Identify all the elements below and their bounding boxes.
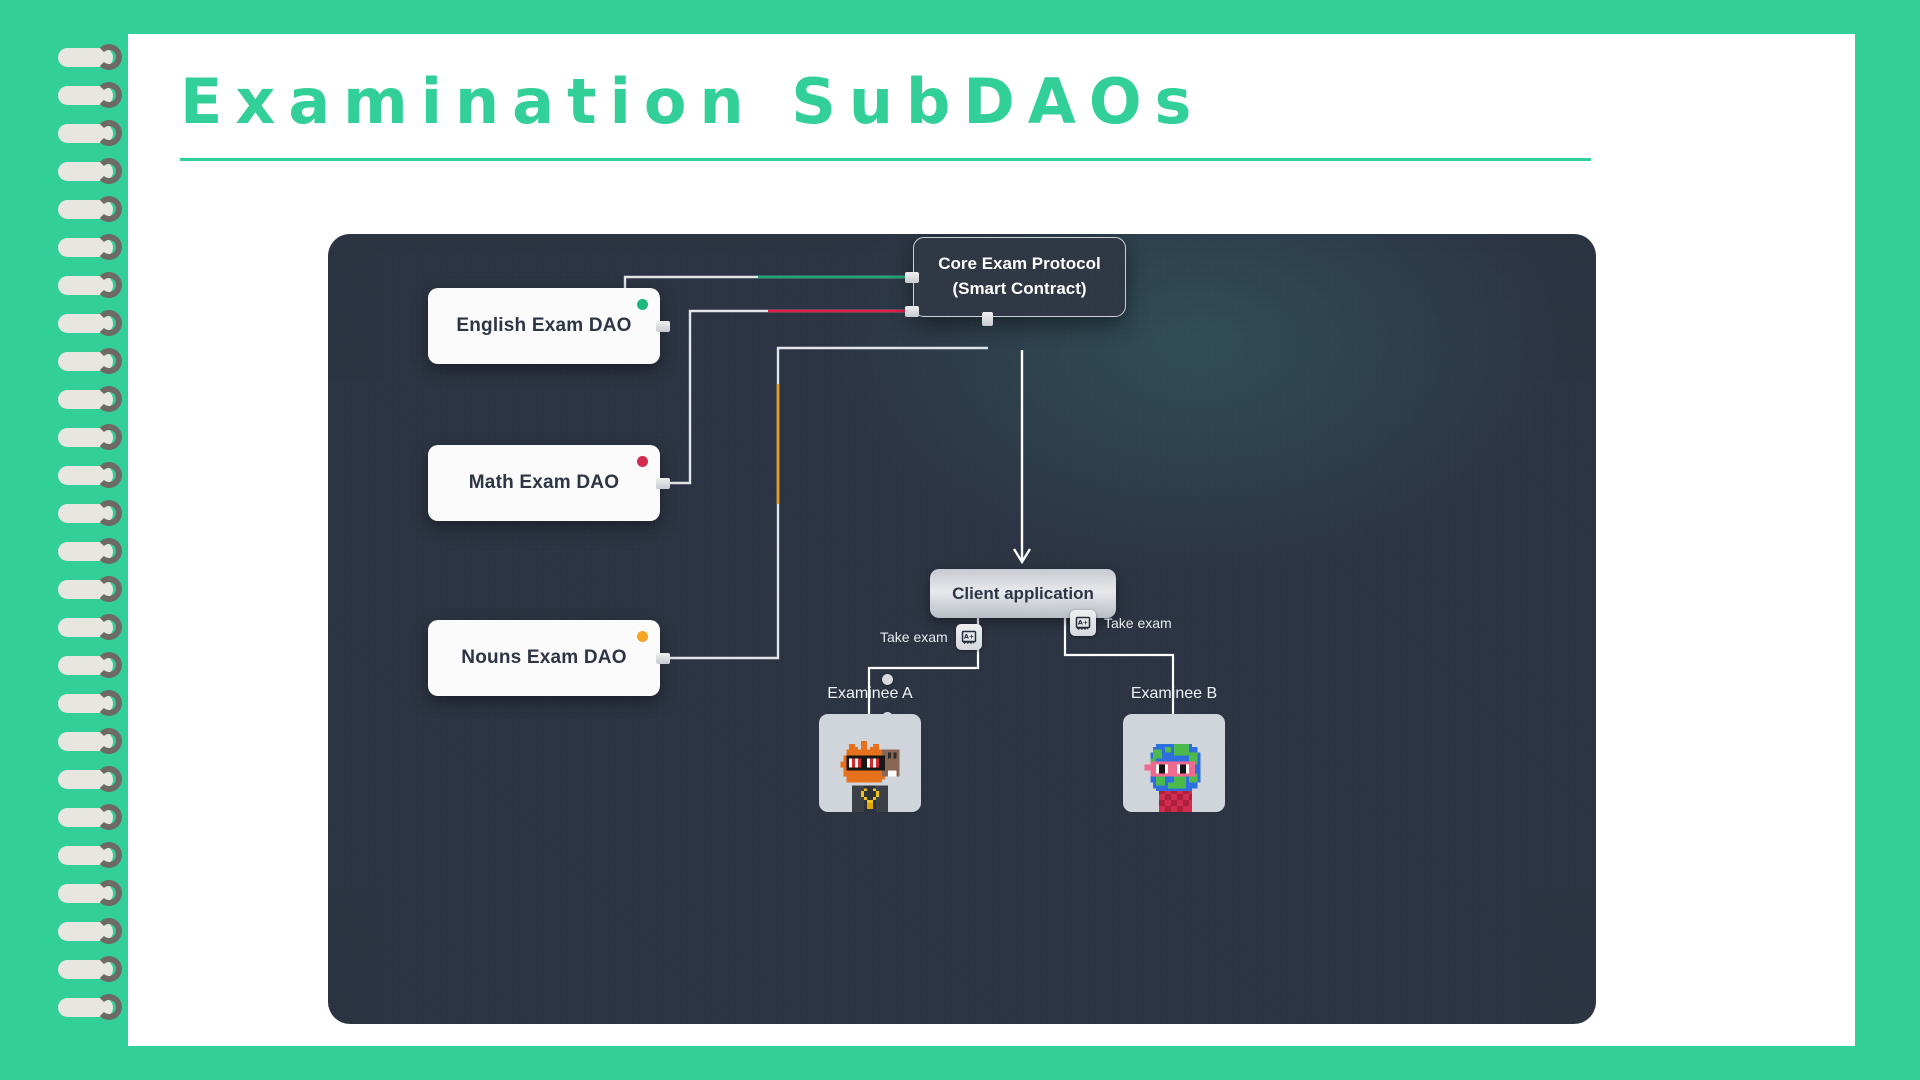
spiral-binding (0, 30, 130, 1060)
exam-grade-a-plus-icon: A+ (956, 624, 982, 650)
slide-root: Examination SubDAOs English Exam DA (0, 0, 1920, 1080)
dao-output-port (656, 653, 670, 664)
take-exam-label: Take exam (1104, 615, 1172, 631)
binding-ring (58, 690, 128, 716)
binding-ring (58, 652, 128, 678)
red-status-dot (637, 456, 648, 467)
examinee-a[interactable]: Examinee A (814, 685, 926, 812)
orange-status-dot (637, 631, 648, 642)
examinee-b[interactable]: Examinee B (1118, 685, 1230, 812)
take-exam-action-b[interactable]: A+ Take exam (1070, 610, 1172, 636)
binding-ring (58, 158, 128, 184)
avatar (819, 714, 921, 812)
binding-ring (58, 234, 128, 260)
examinee-name: Examinee B (1131, 685, 1217, 703)
diagram-canvas: English Exam DAO Math Exam DAO Nouns Exa… (328, 234, 1596, 1024)
binding-ring (58, 994, 128, 1020)
dao-label: Nouns Exam DAO (461, 647, 626, 669)
title-underline (180, 158, 1591, 161)
examinee-name: Examinee A (827, 685, 912, 703)
ellipsis-dot (882, 674, 893, 685)
binding-ring (58, 120, 128, 146)
dao-label: English Exam DAO (456, 315, 631, 337)
binding-ring (58, 462, 128, 488)
dao-card-nouns[interactable]: Nouns Exam DAO (428, 620, 660, 696)
svg-text:A+: A+ (1078, 619, 1088, 627)
binding-ring (58, 956, 128, 982)
core-node-line-2: (Smart Contract) (952, 277, 1086, 302)
binding-ring (58, 500, 128, 526)
exam-grade-a-plus-icon: A+ (1070, 610, 1096, 636)
avatar (1123, 714, 1225, 812)
page-title: Examination SubDAOs (180, 60, 1600, 144)
binding-ring (58, 44, 128, 70)
take-exam-label: Take exam (880, 629, 948, 645)
binding-ring (58, 538, 128, 564)
core-input-port-top (905, 272, 919, 283)
core-exam-protocol-node[interactable]: Core Exam Protocol (Smart Contract) (913, 237, 1126, 317)
binding-ring (58, 614, 128, 640)
binding-ring (58, 804, 128, 830)
binding-ring (58, 842, 128, 868)
client-node-label: Client application (952, 584, 1094, 604)
binding-ring (58, 310, 128, 336)
dao-label: Math Exam DAO (469, 472, 619, 494)
dao-output-port (656, 321, 670, 332)
binding-ring (58, 196, 128, 222)
title-block: Examination SubDAOs (180, 60, 1600, 161)
core-input-port-under (982, 312, 993, 326)
dao-card-math[interactable]: Math Exam DAO (428, 445, 660, 521)
core-input-port-bottom (905, 306, 919, 317)
green-status-dot (637, 299, 648, 310)
take-exam-action-a[interactable]: Take exam A+ (880, 624, 982, 650)
binding-ring (58, 348, 128, 374)
binding-ring (58, 766, 128, 792)
binding-ring (58, 424, 128, 450)
binding-ring (58, 386, 128, 412)
core-node-line-1: Core Exam Protocol (938, 252, 1101, 277)
binding-ring (58, 576, 128, 602)
binding-ring (58, 880, 128, 906)
dao-output-port (656, 478, 670, 489)
binding-ring (58, 728, 128, 754)
binding-ring (58, 918, 128, 944)
binding-ring (58, 82, 128, 108)
dao-card-english[interactable]: English Exam DAO (428, 288, 660, 364)
svg-text:A+: A+ (964, 633, 974, 641)
binding-ring (58, 272, 128, 298)
